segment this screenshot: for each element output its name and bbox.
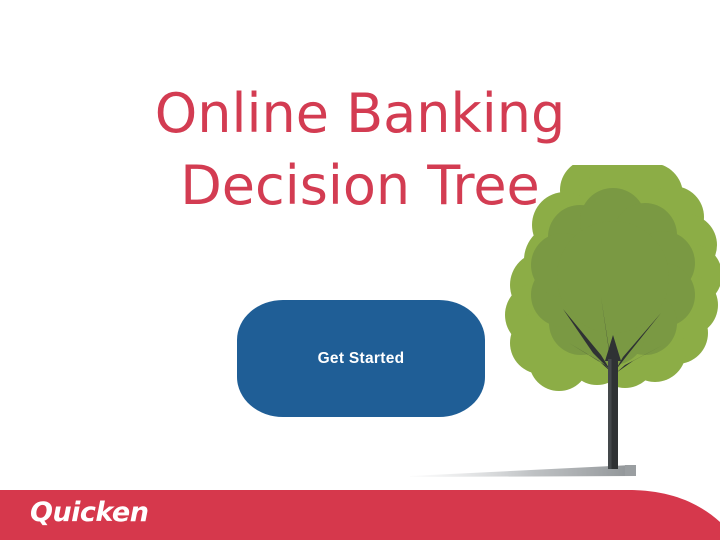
page-title: Online Banking Decision Tree	[0, 78, 720, 222]
title-line-1: Online Banking	[0, 78, 720, 150]
get-started-label: Get Started	[318, 350, 405, 368]
tree-trunk	[608, 359, 618, 469]
get-started-button[interactable]: Get Started	[237, 300, 485, 417]
quicken-logo: Quicken	[30, 497, 148, 528]
slide-canvas: Online Banking Decision Tree	[0, 0, 720, 540]
title-line-2: Decision Tree	[0, 150, 720, 222]
